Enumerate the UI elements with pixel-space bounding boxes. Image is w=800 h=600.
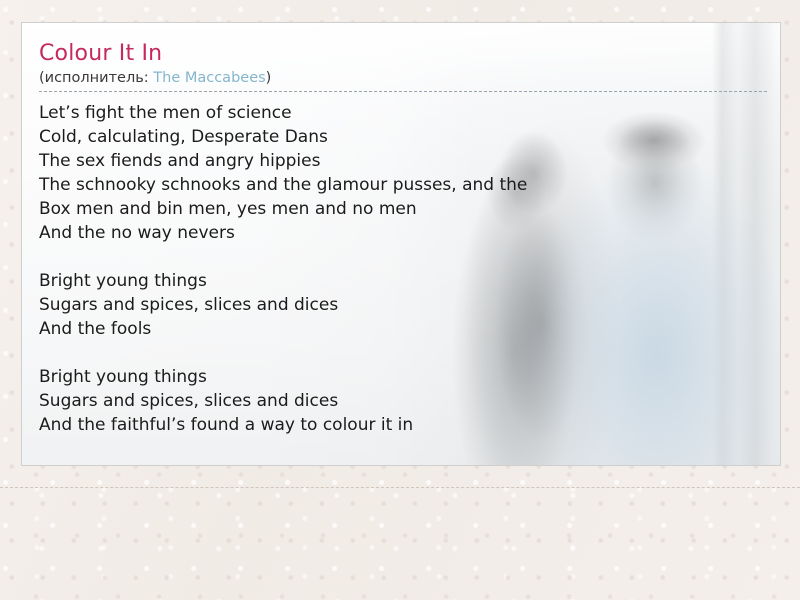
- artist-link[interactable]: The Maccabees: [153, 70, 265, 86]
- lyric-line: Cold, calculating, Desperate Dans: [39, 125, 756, 149]
- lyric-line: Sugars and spices, slices and dices: [39, 389, 756, 413]
- lyric-line-blank: [39, 341, 756, 365]
- artist-label: (исполнитель:: [39, 70, 153, 86]
- lyric-line-blank: [39, 245, 756, 269]
- panel-content: Colour It In (исполнитель: The Maccabees…: [22, 23, 780, 465]
- lyric-line: Box men and bin men, yes men and no men: [39, 197, 756, 221]
- artist-line: (исполнитель: The Maccabees): [39, 68, 756, 88]
- slide-footer-divider: [0, 487, 800, 488]
- page-title: Colour It In: [39, 41, 756, 67]
- lyric-line: Let’s fight the men of science: [39, 101, 756, 125]
- lyrics-body: Let’s fight the men of scienceCold, calc…: [39, 101, 756, 437]
- lyric-line: Bright young things: [39, 365, 756, 389]
- lyric-line: And the no way nevers: [39, 221, 756, 245]
- artist-suffix: ): [266, 70, 272, 86]
- lyric-line: The sex fiends and angry hippies: [39, 149, 756, 173]
- title-divider: [39, 91, 767, 92]
- lyric-line: And the fools: [39, 317, 756, 341]
- lyric-line: And the faithful’s found a way to colour…: [39, 413, 756, 437]
- lyric-line: Sugars and spices, slices and dices: [39, 293, 756, 317]
- lyrics-panel: Colour It In (исполнитель: The Maccabees…: [21, 22, 781, 466]
- lyric-line: Bright young things: [39, 269, 756, 293]
- lyric-line: The schnooky schnooks and the glamour pu…: [39, 173, 756, 197]
